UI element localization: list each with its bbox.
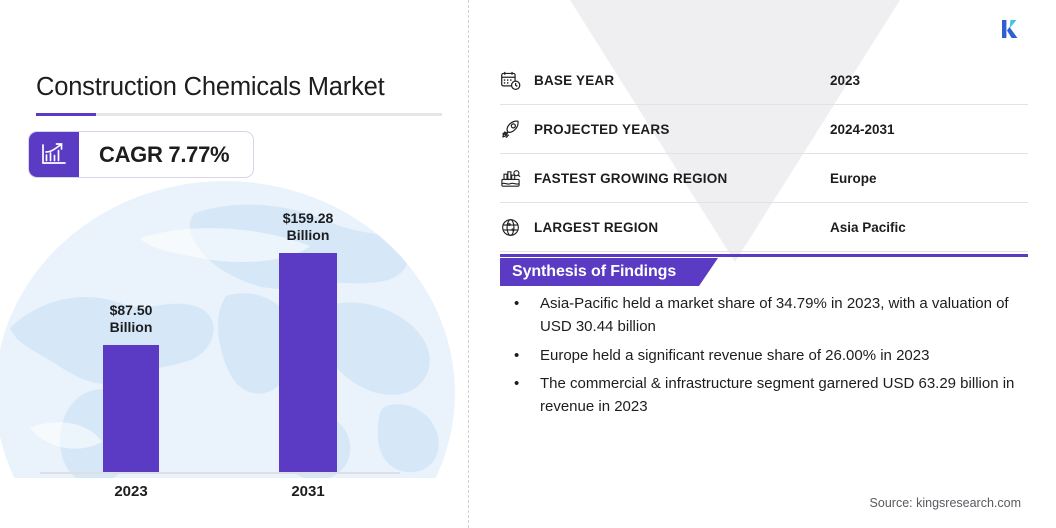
bar-value-label-2031: $159.28 Billion: [248, 210, 368, 244]
title-divider: [36, 113, 442, 116]
synthesis-banner: Synthesis of Findings: [500, 258, 718, 286]
finding-text: Europe held a significant revenue share …: [540, 347, 929, 364]
info-value-projected-years: 2024-2031: [830, 122, 895, 137]
title-divider-accent: [36, 113, 96, 116]
bar-category-label-2031: 2031: [248, 483, 368, 500]
city-growth-icon: [500, 168, 534, 189]
bar-chart: $87.50 Billion 2023 $159.28 Billion 2031: [0, 190, 468, 528]
info-label-largest-region: LARGEST REGION: [534, 220, 830, 235]
finding-text: Asia-Pacific held a market share of 34.7…: [540, 295, 1009, 335]
info-value-base-year: 2023: [830, 73, 860, 88]
kingsresearch-k-logo: [998, 14, 1028, 44]
rocket-icon: [500, 119, 534, 140]
info-row-base-year: BASE YEAR 2023: [500, 56, 1028, 105]
right-panel: BASE YEAR 2023 PROJECTED YEARS 2024: [470, 0, 1056, 528]
synthesis-title: Synthesis of Findings: [512, 263, 676, 281]
info-row-projected-years: PROJECTED YEARS 2024-2031: [500, 105, 1028, 154]
info-row-largest-region: LARGEST REGION Asia Pacific: [500, 203, 1028, 252]
source-attribution: Source: kingsresearch.com: [870, 496, 1021, 510]
left-panel: Construction Chemicals Market: [0, 0, 468, 528]
market-info-table: BASE YEAR 2023 PROJECTED YEARS 2024: [500, 56, 1028, 252]
finding-text: The commercial & infrastructure segment …: [540, 375, 1014, 415]
panel-divider: [468, 0, 469, 528]
bar-2031: [279, 253, 337, 472]
synthesis-top-rule: [500, 254, 1028, 257]
cagr-badge: CAGR 7.77%: [28, 131, 254, 178]
market-infographic: Construction Chemicals Market: [0, 0, 1056, 528]
chart-axis-line: [40, 472, 400, 474]
info-value-fastest-growing-region: Europe: [830, 171, 877, 186]
bullet-icon: •: [514, 372, 519, 395]
calendar-clock-icon: [500, 70, 534, 91]
info-value-largest-region: Asia Pacific: [830, 220, 906, 235]
page-title: Construction Chemicals Market: [36, 72, 446, 103]
list-item: • The commercial & infrastructure segmen…: [500, 372, 1028, 419]
info-label-fastest-growing-region: FASTEST GROWING REGION: [534, 171, 830, 186]
info-label-projected-years: PROJECTED YEARS: [534, 122, 830, 137]
info-row-fastest-growing-region: FASTEST GROWING REGION Europe: [500, 154, 1028, 203]
bar-value-label-2023: $87.50 Billion: [71, 302, 191, 336]
bar-category-label-2023: 2023: [71, 483, 191, 500]
list-item: • Europe held a significant revenue shar…: [500, 344, 1028, 367]
cagr-value-label: CAGR 7.77%: [79, 132, 253, 177]
globe-icon: [500, 217, 534, 238]
bar-2023: [103, 345, 159, 472]
list-item: • Asia-Pacific held a market share of 34…: [500, 292, 1028, 339]
bullet-icon: •: [514, 292, 519, 315]
bar-chart-growth-icon: [29, 132, 79, 177]
findings-list: • Asia-Pacific held a market share of 34…: [500, 292, 1028, 423]
bullet-icon: •: [514, 344, 519, 367]
info-label-base-year: BASE YEAR: [534, 73, 830, 88]
